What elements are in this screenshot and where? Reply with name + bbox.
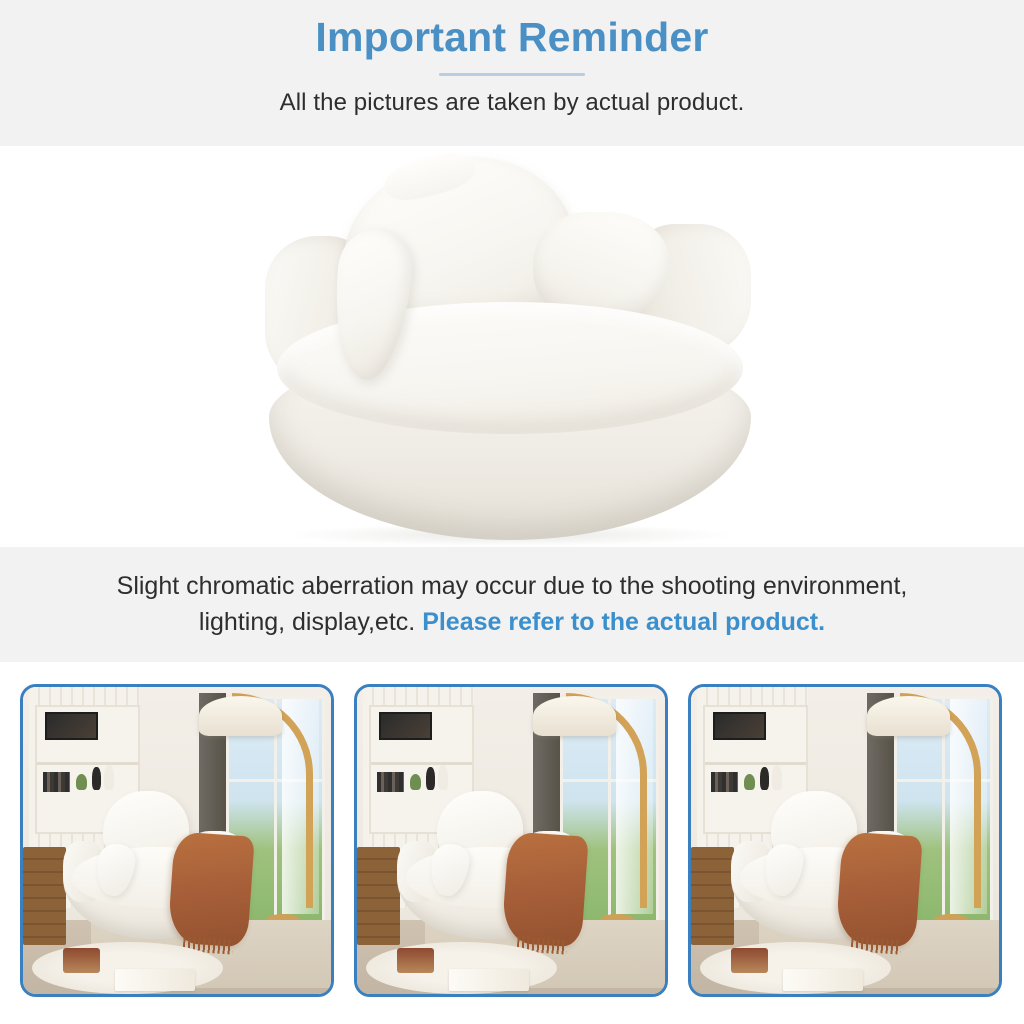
rust-throw-blanket bbox=[501, 832, 589, 948]
potted-plant bbox=[744, 774, 755, 790]
books bbox=[43, 772, 69, 792]
lamp-shade bbox=[199, 696, 282, 736]
rust-throw-blanket bbox=[835, 832, 923, 948]
title-divider bbox=[439, 73, 585, 76]
room-scene bbox=[691, 687, 999, 994]
room-scene bbox=[23, 687, 331, 994]
toy-box bbox=[731, 948, 768, 973]
light-vase bbox=[438, 765, 448, 790]
page-subtitle: All the pictures are taken by actual pro… bbox=[280, 89, 745, 117]
notice-line-2-plain: lighting, display,etc. bbox=[199, 608, 422, 636]
framed-art bbox=[45, 712, 97, 739]
notice-band: Slight chromatic aberration may occur du… bbox=[0, 547, 1024, 662]
toy-box bbox=[63, 948, 100, 973]
page-title: Important Reminder bbox=[315, 14, 708, 61]
potted-plant bbox=[410, 774, 421, 790]
dark-vase bbox=[92, 767, 101, 789]
product-infographic-page: Important Reminder All the pictures are … bbox=[0, 0, 1024, 1024]
product-image-chair bbox=[247, 150, 777, 545]
light-vase bbox=[772, 765, 782, 790]
thumbnail-3[interactable] bbox=[688, 684, 1002, 997]
thumbnail-1[interactable] bbox=[20, 684, 334, 997]
notice-line-2: lighting, display,etc. Please refer to t… bbox=[199, 605, 825, 641]
hero-product-section bbox=[0, 146, 1024, 547]
shelf-board bbox=[371, 762, 472, 765]
shelf-board bbox=[705, 762, 806, 765]
potted-plant bbox=[76, 774, 87, 790]
header-band: Important Reminder All the pictures are … bbox=[0, 0, 1024, 146]
open-magazine bbox=[449, 969, 529, 990]
rust-throw-blanket bbox=[167, 832, 255, 948]
framed-art bbox=[713, 712, 765, 739]
dark-vase bbox=[760, 767, 769, 789]
notice-emphasis: Please refer to the actual product. bbox=[422, 608, 825, 636]
framed-art bbox=[379, 712, 431, 739]
thumbnail-2[interactable] bbox=[354, 684, 668, 997]
thumbnail-strip bbox=[20, 684, 1004, 997]
open-magazine bbox=[115, 969, 195, 990]
books bbox=[377, 772, 403, 792]
books bbox=[711, 772, 737, 792]
lamp-shade bbox=[867, 696, 950, 736]
light-vase bbox=[104, 765, 114, 790]
side-table bbox=[357, 847, 400, 945]
dark-vase bbox=[426, 767, 435, 789]
side-table bbox=[691, 847, 734, 945]
side-table bbox=[23, 847, 66, 945]
room-scene bbox=[357, 687, 665, 994]
shelf-board bbox=[37, 762, 138, 765]
lamp-shade bbox=[533, 696, 616, 736]
open-magazine bbox=[783, 969, 863, 990]
notice-line-1: Slight chromatic aberration may occur du… bbox=[117, 569, 908, 605]
toy-box bbox=[397, 948, 434, 973]
